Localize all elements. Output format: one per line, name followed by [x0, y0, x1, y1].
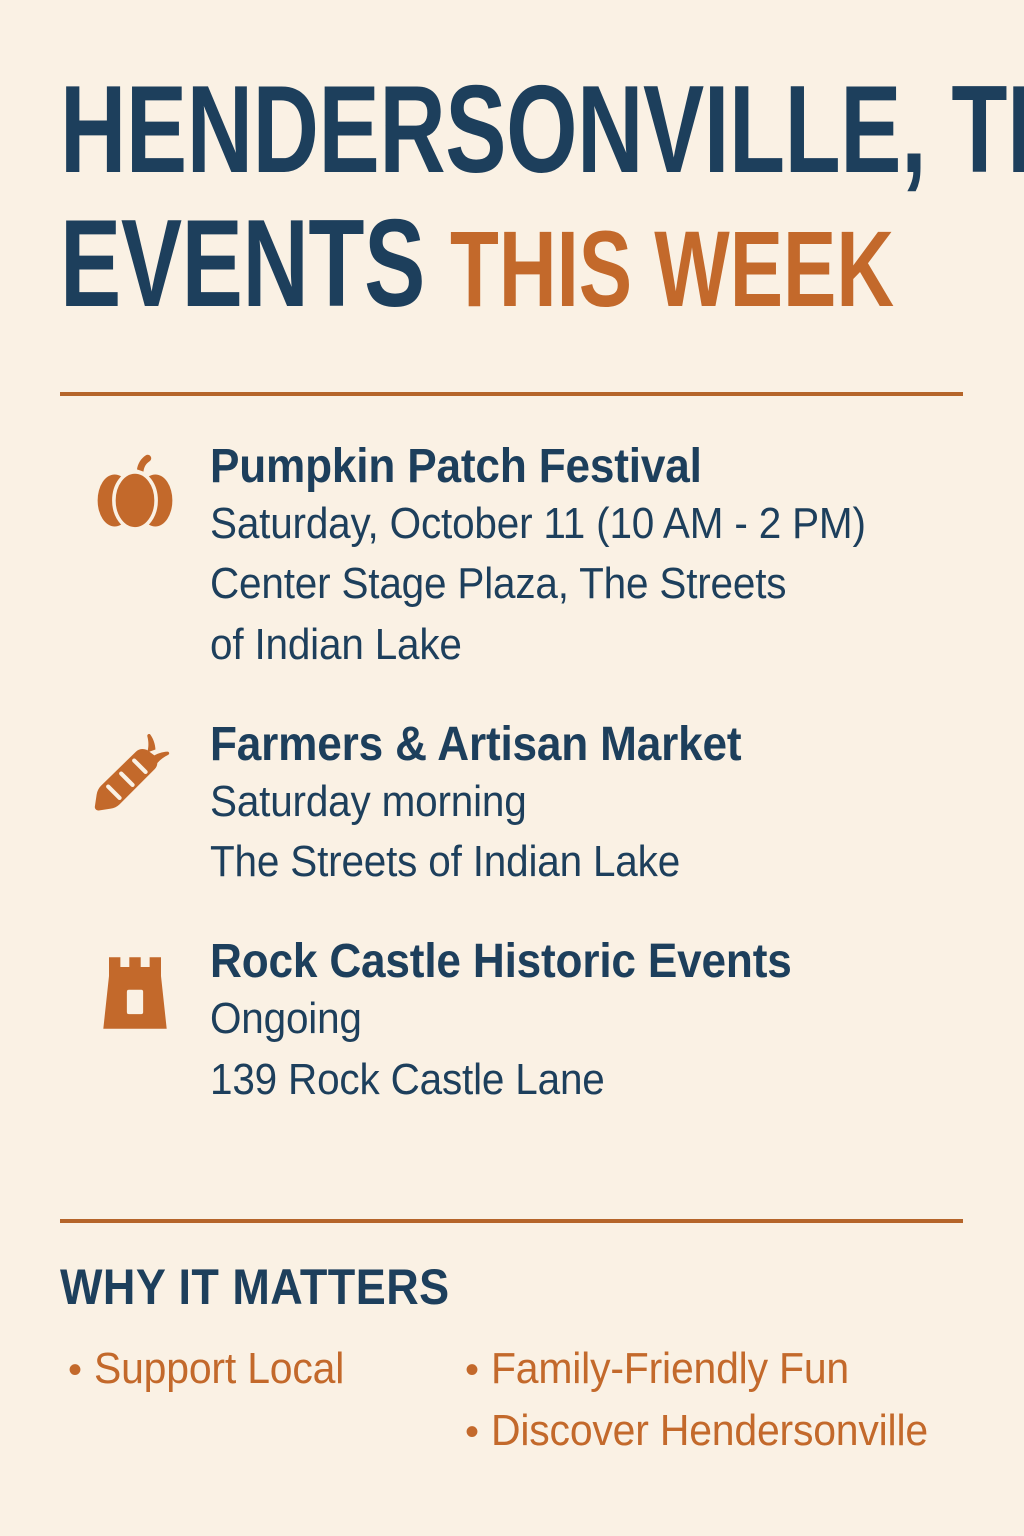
event-line-1: Saturday, October 11 (10 AM - 2 PM) [210, 494, 928, 555]
event-details: Pumpkin Patch Festival Saturday, October… [210, 440, 990, 676]
event-title: Rock Castle Historic Events [210, 935, 928, 989]
event-line-1: Saturday morning [210, 772, 928, 833]
event-line-2: 139 Rock Castle Lane [210, 1050, 928, 1111]
event-line-2: The Streets of Indian Lake [210, 832, 928, 893]
title-line-events: EVENTS THIS WEEK [60, 204, 733, 326]
event-line-2: Center Stage Plaza, The Streets [210, 554, 928, 615]
castle-icon [60, 935, 210, 1045]
divider-bottom [60, 1219, 963, 1223]
divider-top [60, 392, 963, 396]
events-poster: HENDERSONVILLE, TN EVENTS THIS WEEK [0, 0, 1024, 1536]
why-list-item: • Discover Hendersonville [465, 1400, 961, 1462]
event-item[interactable]: Farmers & Artisan Market Saturday mornin… [60, 718, 990, 893]
event-title: Farmers & Artisan Market [210, 718, 928, 772]
event-item[interactable]: Pumpkin Patch Festival Saturday, October… [60, 440, 990, 676]
why-item-label: Discover Hendersonville [491, 1400, 928, 1462]
event-item[interactable]: Rock Castle Historic Events Ongoing 139 … [60, 935, 990, 1110]
title-this-week-word: THIS WEEK [450, 208, 894, 329]
bullet-icon: • [68, 1342, 94, 1399]
events-list: Pumpkin Patch Festival Saturday, October… [60, 440, 990, 1110]
event-details: Rock Castle Historic Events Ongoing 139 … [210, 935, 990, 1110]
event-title: Pumpkin Patch Festival [210, 440, 928, 494]
why-column-left: • Support Local [68, 1338, 363, 1400]
event-line-3: of Indian Lake [210, 615, 928, 676]
why-list-item: • Family-Friendly Fun [465, 1338, 961, 1400]
event-details: Farmers & Artisan Market Saturday mornin… [210, 718, 990, 893]
why-column-right: • Family-Friendly Fun • Discover Henders… [465, 1338, 961, 1463]
bullet-icon: • [465, 1404, 491, 1461]
why-it-matters-section: WHY IT MATTERS • Support Local • Family-… [60, 1258, 990, 1488]
page-title: HENDERSONVILLE, TN EVENTS THIS WEEK [60, 70, 970, 325]
why-item-label: Support Local [94, 1338, 344, 1400]
why-list-item: • Support Local [68, 1338, 363, 1400]
event-line-1: Ongoing [210, 989, 928, 1050]
carrot-icon [60, 718, 210, 828]
why-it-matters-heading: WHY IT MATTERS [60, 1258, 897, 1316]
title-line-location: HENDERSONVILLE, TN [60, 70, 733, 192]
why-item-label: Family-Friendly Fun [491, 1338, 849, 1400]
title-events-word: EVENTS [60, 195, 425, 333]
why-bullet-columns: • Support Local • Family-Friendly Fun • … [60, 1338, 990, 1488]
bullet-icon: • [465, 1342, 491, 1399]
pumpkin-icon [60, 440, 210, 550]
